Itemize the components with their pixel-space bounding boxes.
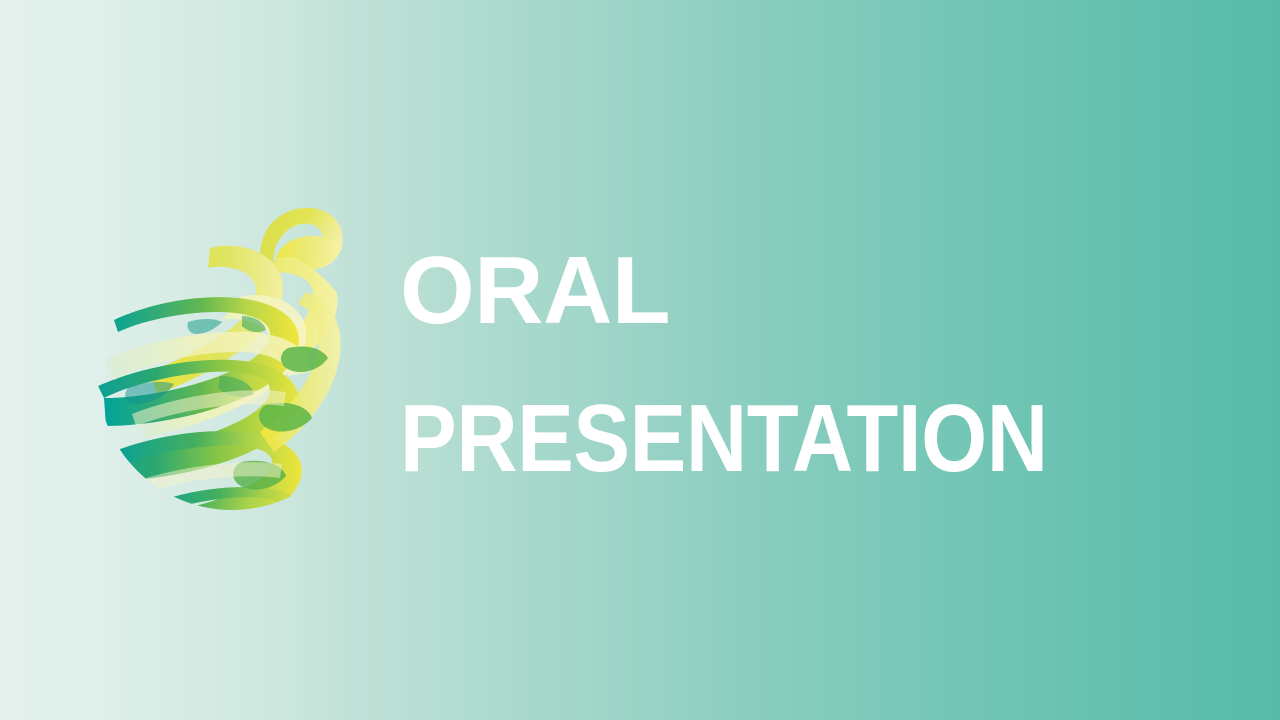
title-slide: ORAL PRESENTATION (0, 0, 1280, 720)
title-line-oral: ORAL (400, 243, 1200, 339)
globe-ribbon-logo (92, 200, 382, 518)
logo-ribbons (94, 246, 341, 518)
title-line-presentation: PRESENTATION (400, 391, 1108, 487)
slide-title-block: ORAL PRESENTATION (400, 243, 1200, 487)
